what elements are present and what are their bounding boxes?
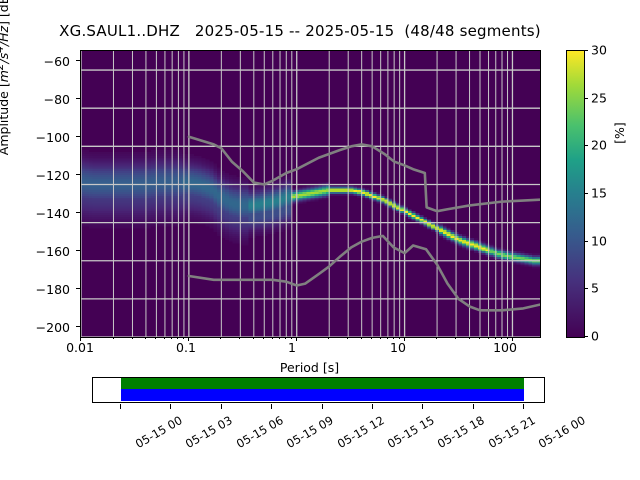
x-tick-label-10: 10 [390,340,406,355]
timeline-tick-label: 05-15 18 [435,413,487,451]
page-title: XG.SAUL1..DHZ 2025-05-15 -- 2025-05-15 (… [0,22,600,40]
x-tick-mark [479,337,480,339]
y-tick-label-140: −140 [22,206,70,221]
timeline-tick [372,404,373,409]
x-tick-mark [279,337,280,339]
timeline-tick-label: 05-15 09 [284,413,336,451]
colorbar[interactable] [566,50,585,338]
x-tick-mark [171,337,172,339]
timeline-tick [523,404,524,409]
colorbar-label: [%] [612,73,627,193]
coverage-bar-green [121,378,524,389]
x-tick-mark [239,337,240,339]
x-tick-mark [361,337,362,339]
x-tick-mark [155,337,156,339]
y-tick-label-120: −120 [22,168,70,183]
colorbar-tick-label-10: 10 [591,234,607,249]
x-tick-mark [183,337,184,339]
x-tick-mark [113,337,114,339]
timeline-tick-label: 05-16 00 [536,413,588,451]
x-axis-label: Period [s] [80,360,539,375]
x-tick-mark [164,337,165,339]
x-tick-label-1: 1 [288,340,296,355]
colorbar-tick-label-15: 15 [591,186,607,201]
timeline-tick-label: 05-15 15 [385,413,437,451]
x-tick-mark [263,337,264,339]
colorbar-tick [584,145,588,146]
colorbar-tick-label-5: 5 [591,281,599,296]
colorbar-tick-label-30: 30 [591,43,607,58]
colorbar-tick [584,98,588,99]
timeline-tick [221,404,222,409]
colorbar-tick [584,336,588,337]
x-tick-mark [347,337,348,339]
x-tick-mark [328,337,329,339]
ppsd-figure: XG.SAUL1..DHZ 2025-05-15 -- 2025-05-15 (… [0,0,640,480]
x-tick-mark [380,337,381,339]
data-coverage-timeline[interactable] [92,377,545,403]
y-tick-label-200: −200 [22,320,70,335]
timeline-tick-label: 05-15 21 [486,413,538,451]
timeline-tick-label: 05-15 12 [334,413,386,451]
x-tick-label-0p01: 0.01 [66,340,94,355]
x-tick-mark [393,337,394,339]
x-tick-mark [488,337,489,339]
ppsd-plot-area[interactable] [80,50,541,338]
x-tick-mark [399,337,400,339]
x-tick-mark [272,337,273,339]
y-tick-label-160: −160 [22,244,70,259]
timeline-tick [322,404,323,409]
y-tick-label-60: −60 [22,54,70,69]
timeline-tick-label: 05-15 03 [183,413,235,451]
colorbar-tick-label-0: 0 [591,329,599,344]
x-tick-mark [132,337,133,339]
x-tick-mark [501,337,502,339]
x-tick-label-100: 100 [493,340,517,355]
y-tick-label-100: −100 [22,130,70,145]
x-tick-mark [387,337,388,339]
x-tick-mark [507,337,508,339]
x-tick-mark [436,337,437,339]
x-tick-label-0p1: 0.1 [176,340,196,355]
x-tick-mark [285,337,286,339]
timeline-tick-label: 05-15 06 [234,413,286,451]
x-tick-mark [469,337,470,339]
colorbar-tick [584,241,588,242]
timeline-tick [422,404,423,409]
colorbar-tick [584,50,588,51]
timeline-tick [271,404,272,409]
colorbar-tick [584,288,588,289]
y-axis-label: Amplitude [m2/s4/Hz] [dB] [0,0,11,193]
colorbar-tick [584,193,588,194]
x-tick-mark [220,337,221,339]
y-tick-label-80: −80 [22,92,70,107]
y-tick-label-180: −180 [22,282,70,297]
coverage-bar-blue [121,389,524,401]
colorbar-tick-label-25: 25 [591,91,607,106]
ppsd-canvas [81,51,540,337]
x-tick-mark [177,337,178,339]
timeline-tick [473,404,474,409]
x-tick-mark [253,337,254,339]
timeline-tick [170,404,171,409]
x-tick-mark [291,337,292,339]
psd-density-histogram [81,150,540,268]
x-tick-mark [145,337,146,339]
timeline-tick [120,404,121,409]
x-tick-mark [495,337,496,339]
colorbar-tick-label-20: 20 [591,138,607,153]
timeline-tick-label: 05-15 00 [133,413,185,451]
x-tick-mark [455,337,456,339]
x-tick-mark [371,337,372,339]
